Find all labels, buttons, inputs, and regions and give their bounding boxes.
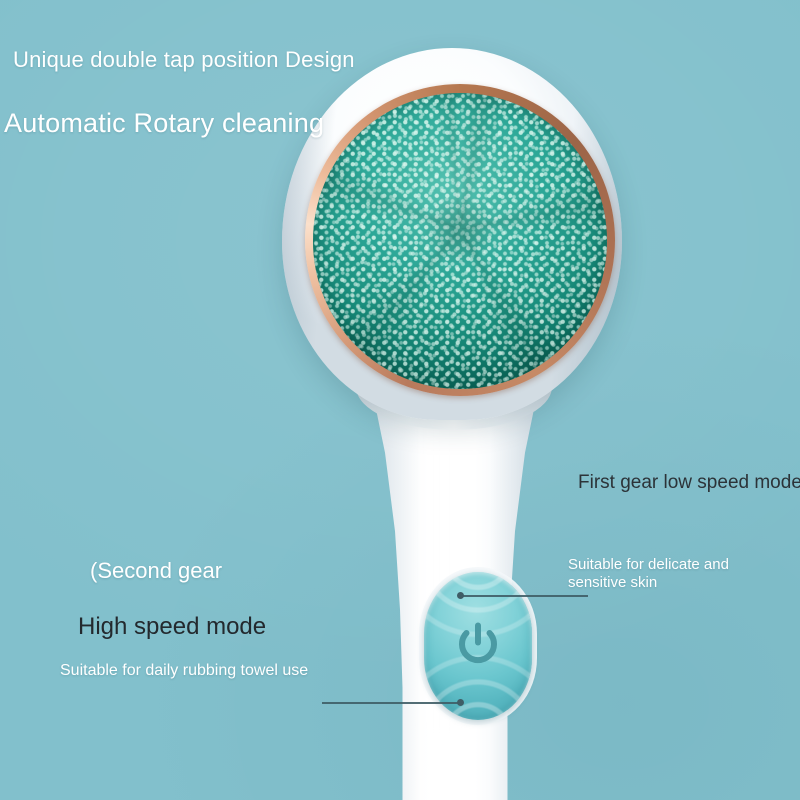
callout-first-gear-description: Suitable for delicate and sensitive skin (568, 556, 729, 592)
callout-second-gear-title: (Second gear (90, 558, 222, 584)
product-infographic: Unique double tap position Design Automa… (0, 0, 800, 800)
leader-dot-upper (457, 592, 464, 599)
leader-dot-lower (457, 699, 464, 706)
headline-secondary: Automatic Rotary cleaning (4, 108, 324, 139)
headline-primary: Unique double tap position Design (13, 47, 355, 73)
callout-second-gear-subtitle: High speed mode (78, 613, 266, 641)
leader-line-upper (460, 595, 588, 597)
leader-line-lower (322, 702, 462, 704)
callout-first-gear-title: First gear low speed mode (578, 472, 800, 494)
callout-second-gear-description: Suitable for daily rubbing towel use (60, 662, 308, 680)
